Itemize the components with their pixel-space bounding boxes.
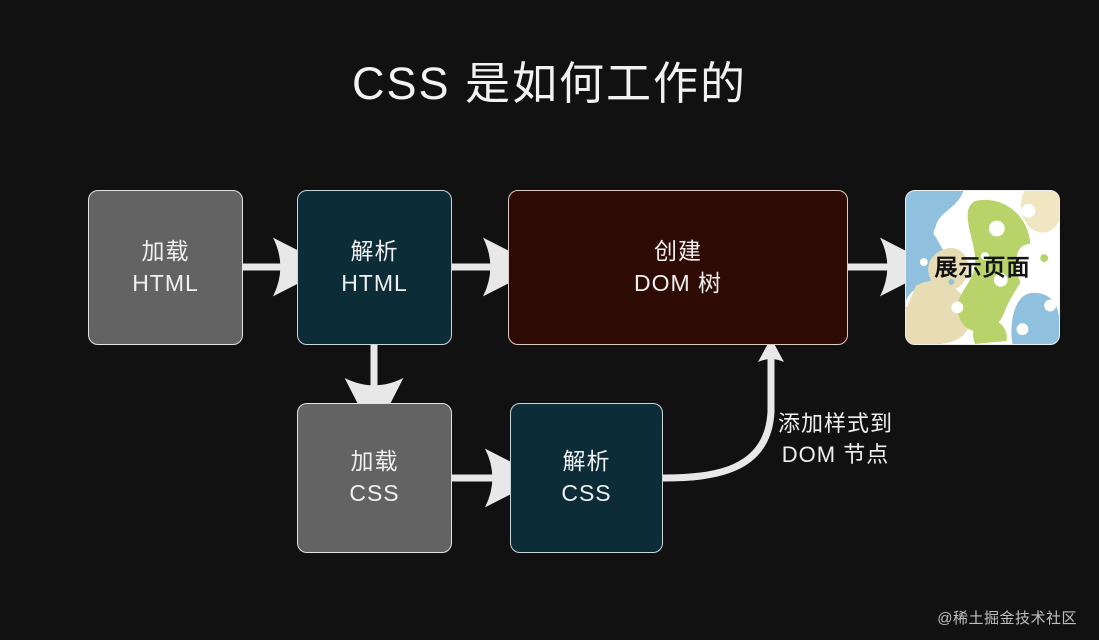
node-load-html[interactable]: 加载 HTML [88, 190, 243, 345]
caption-apply-styles-line1: 添加样式到 [778, 411, 893, 436]
node-load-css-line2: CSS [349, 478, 399, 510]
page-title: CSS 是如何工作的 [0, 47, 1099, 112]
node-build-dom-line2: DOM 树 [634, 268, 722, 300]
node-load-html-line1: 加载 [142, 236, 190, 268]
node-parse-html-line1: 解析 [351, 236, 399, 268]
caption-apply-styles: 添加样式到 DOM 节点 [778, 408, 893, 470]
edge-parse-css-to-build-dom [663, 338, 784, 478]
node-parse-html[interactable]: 解析 HTML [297, 190, 452, 345]
node-render-page[interactable]: 展示页面 [905, 190, 1060, 345]
node-parse-html-line2: HTML [341, 268, 408, 300]
node-parse-css-line1: 解析 [563, 446, 611, 478]
node-render-page-label: 展示页面 [935, 252, 1031, 284]
caption-apply-styles-line2: DOM 节点 [782, 442, 889, 467]
node-build-dom-line1: 创建 [654, 236, 702, 268]
credit-watermark: @稀土掘金技术社区 [937, 607, 1077, 628]
node-load-html-line2: HTML [132, 268, 199, 300]
node-build-dom[interactable]: 创建 DOM 树 [508, 190, 848, 345]
diagram-canvas: 访客 79358访客 79358访客 79358访客 79358访客 79358… [0, 0, 1099, 640]
node-load-css-line1: 加载 [351, 446, 399, 478]
node-load-css[interactable]: 加载 CSS [297, 403, 452, 553]
node-parse-css-line2: CSS [561, 478, 611, 510]
node-parse-css[interactable]: 解析 CSS [510, 403, 663, 553]
